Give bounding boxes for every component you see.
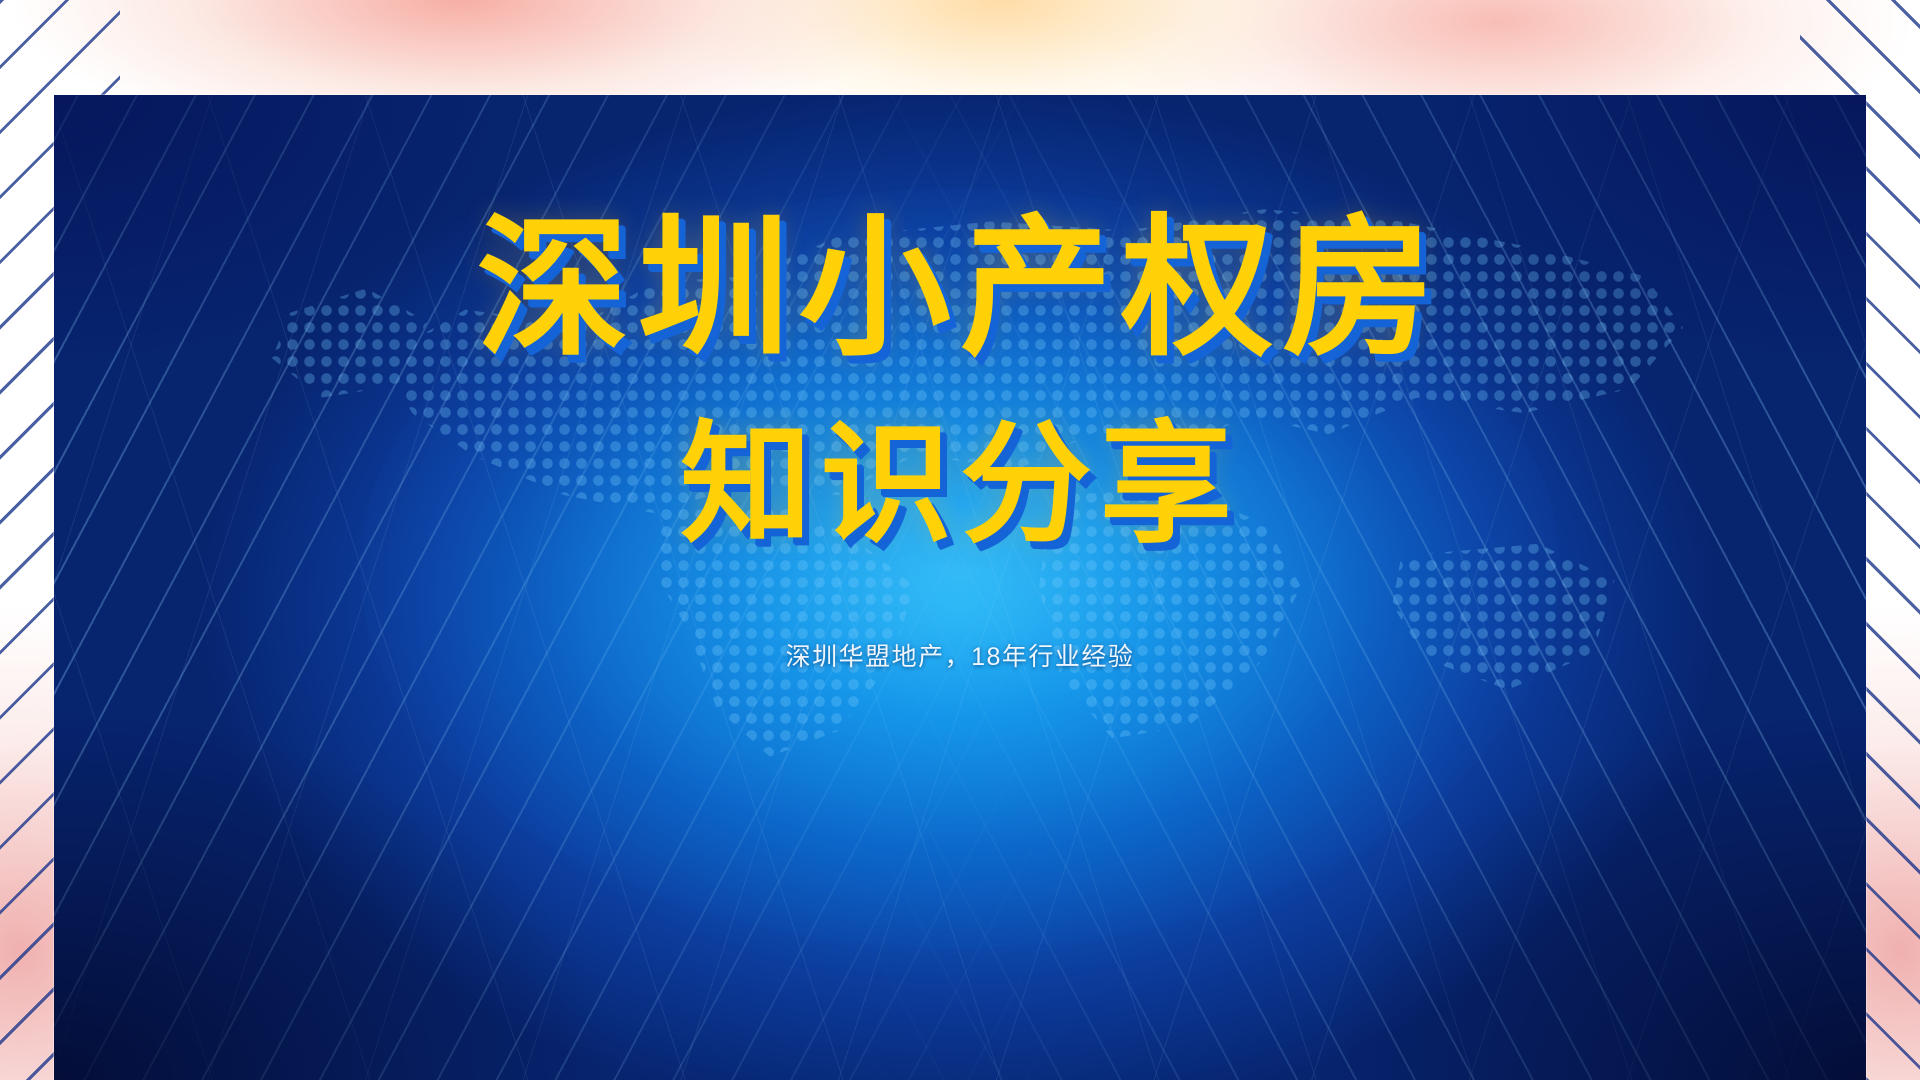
slide-content: 深圳小产权房 知识分享 深圳华盟地产，18年行业经验 [54, 95, 1866, 1080]
slide-subtitle: 深圳华盟地产，18年行业经验 [786, 637, 1135, 673]
slide-inner-panel: 深圳小产权房 知识分享 深圳华盟地产，18年行业经验 [54, 95, 1866, 1080]
slide-title-line-2: 知识分享 [680, 419, 1240, 551]
slide-title-line-1: 深圳小产权房 [477, 213, 1444, 365]
presentation-slide: 深圳小产权房 知识分享 深圳华盟地产，18年行业经验 [0, 0, 1920, 1080]
